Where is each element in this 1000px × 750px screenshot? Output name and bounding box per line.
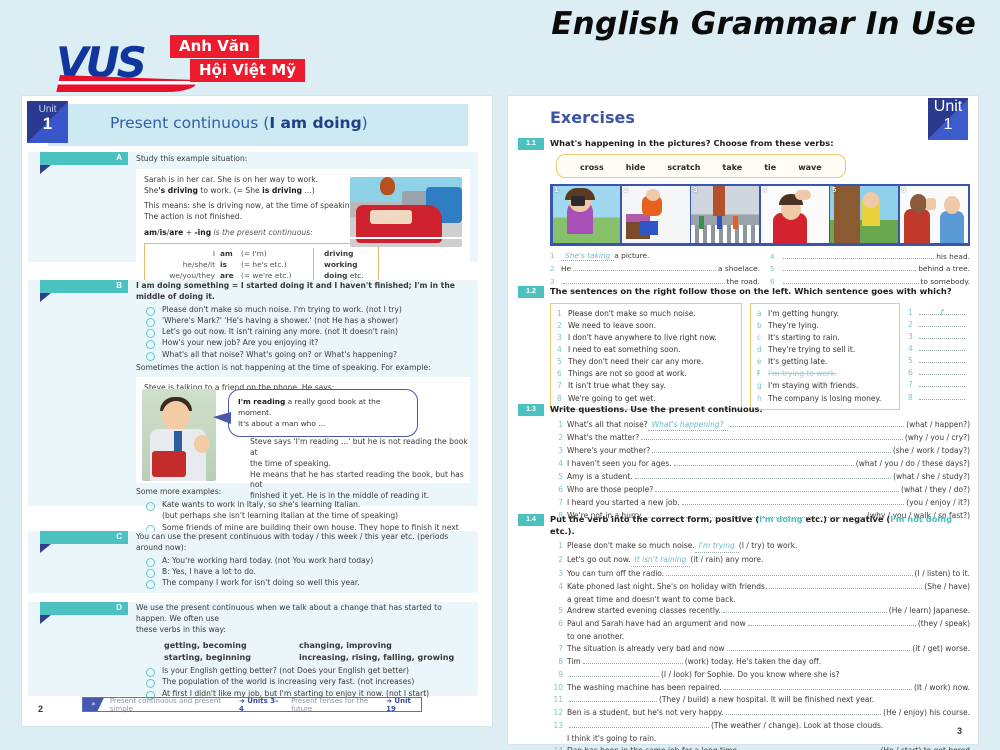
answer-row[interactable]: 3 [908,331,965,343]
answer-filled[interactable]: I'm trying [695,540,739,553]
question-row[interactable]: 1What's all that noise?What's happening?… [550,419,970,432]
logo-tagline-1: Anh Văn [170,35,259,58]
picture-2: 2 [622,186,690,243]
answer-blank[interactable] [563,276,725,284]
exercise-instruction: Write questions. Use the present continu… [550,404,970,416]
explain-line-2: the time of speaking. [250,459,475,470]
section-b: B I am doing something = I started doing… [28,280,478,545]
table-ing: driving [313,248,370,259]
answer-blank[interactable] [682,497,905,505]
exercise-instruction: The sentences on the right follow those … [550,286,970,298]
verb-row-cont: a great time and doesn't want to come ba… [550,594,970,606]
answers-col-right: 4his head. 5behind a tree. 6to somebody. [760,251,970,289]
section-a-panel: Sarah is in her car. She is on her way t… [136,169,470,263]
list-item: Is your English getting better? (not Doe… [146,666,470,677]
match-item[interactable]: 7It isn't true what they say. [557,380,735,392]
verb-row[interactable]: 2Let's go out now.It isn't raining(it / … [550,554,970,567]
answer-row[interactable]: 6to somebody. [770,276,970,286]
explain-line-1: Steve says 'I'm reading ...' but he is n… [250,437,475,459]
top-banner: English Grammar In Use VUS Anh Văn Hội V… [0,0,1000,96]
list-item: Please don't make so much noise. I'm try… [146,305,470,316]
verb-row[interactable]: 14Dan has been in the same job for a lon… [550,745,970,750]
section-a-tab: A [40,152,128,165]
verb-row[interactable]: 10The washing machine has been repaired.… [550,682,970,694]
section-b-letter: B [116,281,122,290]
exercise-1-1: 1.1 What's happening in the pictures? Ch… [550,138,970,288]
table-subject: I [153,248,215,259]
answer-post: a shoelace. [718,264,760,273]
answers-col-left: 1She's takinga picture. 2Hea shoelace. 3… [550,251,760,289]
exercise-1-1-answers: 1She's takinga picture. 2Hea shoelace. 3… [550,251,970,289]
match-option[interactable]: hThe company is losing money. [757,393,893,405]
reference-bar[interactable]: » Present continuous and present simple … [82,697,422,712]
list-item: The company I work for isn't doing so we… [146,578,470,589]
answer-blank[interactable] [919,379,965,387]
section-c-tab: C [40,531,128,544]
unit-header-bar: Present continuous (I am doing) [48,104,468,146]
verb-form-list: 1Please don't make so much noise.I'm try… [550,540,970,750]
exercise-instruction: Put the verb into the correct form, posi… [550,514,970,537]
unit-badge-number: 1 [27,115,68,134]
verb-group-1b: starting, beginning [164,652,299,663]
answer-row[interactable]: 6 [908,367,965,379]
list-item: A: You're working hard today. (not You w… [146,556,470,567]
section-c-body: You can use the present continuous with … [136,531,478,589]
answer-row[interactable]: 3the road. [550,276,760,286]
answer-blank[interactable] [769,581,922,589]
section-b-head: I am doing something = I started doing i… [136,281,455,301]
matching-right-box: aI'm getting hungry. bThey're lying. cIt… [750,303,900,410]
section-d-tab: D [40,602,128,615]
answer-post: his head. [936,252,970,261]
answer-blank[interactable] [727,643,911,651]
answer-post: the road. [727,277,760,286]
answer-blank[interactable] [783,251,934,259]
verb-row[interactable]: 3You can turn off the radio.(I / listen)… [550,568,970,580]
list-item-note: (but perhaps she isn't learning Italian … [146,511,470,522]
match-option[interactable]: eIt's getting late. [757,356,893,368]
answer-row[interactable]: 8 [908,392,965,404]
car-illustration [350,177,462,247]
steve-explanation: Steve says 'I'm reading ...' but he is n… [250,437,475,502]
logo-tagline-2: Hội Việt Mỹ [190,59,305,82]
exercise-1-3: 1.3 Write questions. Use the present con… [550,404,970,522]
question-row[interactable]: 5Amy is a student.(what / she / study?) [550,471,970,483]
unit-badge-number: 1 [944,116,953,133]
answer-blank[interactable] [783,276,919,284]
answer-blank[interactable] [573,263,716,271]
answer-blank[interactable] [666,568,912,576]
question-row[interactable]: 2What's the matter?(why / you / cry?) [550,432,970,444]
answer-blank[interactable] [741,745,878,750]
verb-row[interactable]: 6Paul and Sarah have had an argument and… [550,618,970,630]
answer-pre: He [561,264,571,273]
unit-badge-label: Unit [934,98,962,115]
answer-filled[interactable]: f [919,307,965,315]
answer-blank[interactable] [674,458,854,466]
exercise-1-4: 1.4 Put the verb into the correct form, … [550,514,970,750]
verb-option[interactable]: take [722,163,742,172]
answer-row[interactable]: 2 [908,319,965,331]
unit-badge-left: Unit 1 [27,101,68,143]
verb-row[interactable]: 9(I / look) for Sophie. Do you know wher… [550,669,970,681]
verb-row[interactable]: 1Please don't make so much noise.I'm try… [550,540,970,553]
answer-filled[interactable]: What's happening? [648,419,728,432]
match-item[interactable]: 8We're going to get wet. [557,393,735,405]
answer-row[interactable]: 7 [908,379,965,391]
match-item[interactable]: 6Things are not so good at work. [557,368,735,380]
verb-option[interactable]: cross [580,163,604,172]
page-root: English Grammar In Use VUS Anh Văn Hội V… [0,0,1000,750]
section-c-head: You can use the present continuous with … [136,532,470,554]
table-subject: he/she/it [153,259,215,270]
exercise-number: 1.4 [518,514,544,526]
section-c: C You can use the present continuous wit… [28,531,478,589]
verb-row[interactable]: 8Tim(work) today. He's taken the day off… [550,656,970,668]
section-a-letter: A [116,153,122,162]
speech-bubble: I'm reading a really good book at the mo… [228,389,418,436]
exercise-number: 1.3 [518,404,544,416]
match-option[interactable]: gI'm staying with friends. [757,380,893,392]
matching-left-box: 1Please don't make so much noise. 2We ne… [550,303,742,410]
picture-6: 6 [900,186,968,243]
section-a-intro: Study this example situation: [136,154,470,165]
answer-filled[interactable]: She's taking [561,251,614,261]
section-a-body: Study this example situation: Sarah is i… [136,152,478,263]
answer-row[interactable]: 4his head. [770,251,970,261]
match-item[interactable]: 4I need to eat something soon. [557,344,735,356]
vus-logo: VUS Anh Văn Hội Việt Mỹ [56,38,346,92]
section-c-bullets: A: You're working hard today. (not You w… [146,556,470,589]
answer-blank[interactable] [919,319,965,327]
picture-5: 5 [830,186,898,243]
answer-blank[interactable] [919,392,965,400]
answer-row[interactable]: 1f [908,307,965,319]
answer-blank[interactable] [724,682,912,690]
left-page: Present continuous (I am doing) Unit 1 A… [22,96,492,726]
answer-blank[interactable] [635,471,891,479]
verb-row-cont: to one another. [550,631,970,643]
question-list: 1What's all that noise?What's happening?… [550,419,970,522]
answer-row[interactable]: 5behind a tree. [770,263,970,273]
section-a: A Study this example situation: Sarah is… [28,152,478,263]
page-number-right: 3 [957,726,962,736]
section-b-after: Sometimes the action is not happening at… [136,363,470,374]
list-item: 'Where's Mark?' 'He's having a shower.' … [146,316,470,327]
list-item: Kate wants to work in Italy, so she's le… [146,500,470,511]
answer-blank[interactable] [919,331,965,339]
answer-filled[interactable]: It isn't raining [631,554,691,567]
table-verb: am [215,248,241,259]
answer-post: behind a tree. [918,264,970,273]
answer-blank[interactable] [569,694,657,702]
unit-title: Present continuous (I am doing) [110,114,368,132]
answer-blank[interactable] [569,720,709,728]
verb-option[interactable]: wave [798,163,821,172]
ref-link-1[interactable]: ➜ Units 3–4 [239,697,281,713]
match-option[interactable]: cIt's starting to rain. [757,332,893,344]
verb-row-cont: I think it's going to rain. [550,733,970,745]
verb-option[interactable]: tie [764,163,776,172]
right-page: Exercises Unit 1 1.1 What's happening in… [508,96,978,744]
section-b-bullets: Please don't make so much noise. I'm try… [146,305,470,361]
match-option[interactable]: aI'm getting hungry. [757,308,893,320]
answer-blank[interactable] [641,432,903,440]
book-title: English Grammar In Use [551,6,976,42]
picture-4: 4 [761,186,829,243]
question-row[interactable]: 4I haven't seen you for ages.(what / you… [550,458,970,470]
list-item: Let's go out now. It isn't raining any m… [146,327,470,338]
answer-blank[interactable] [652,445,891,453]
unit-title-bold: I am doing [269,114,361,132]
section-b-body: I am doing something = I started doing i… [136,280,478,544]
steve-panel: Steve is talking to a friend on the phon… [136,377,470,483]
page-number-left: 2 [38,704,43,714]
verb-option[interactable]: hide [626,163,646,172]
answer-blank[interactable] [919,355,965,363]
match-item[interactable]: 2We need to leave soon. [557,320,735,332]
verb-group-2b: increasing, rising, falling, growing [299,652,454,663]
section-b-tab: B [40,280,128,293]
verb-group-2a: changing, improving [299,640,454,651]
table-short: (= I'm) [241,248,303,259]
question-row[interactable]: 3Where's your mother?(she / work / today… [550,445,970,457]
table-ing: working [313,259,370,270]
table-verb: is [215,259,241,270]
verb-bank: crosshidescratchtaketiewave [556,154,846,178]
verb-row[interactable]: 11(They / build) a new hospital. It will… [550,694,970,706]
answer-blank[interactable] [919,367,965,375]
section-d-head-l1: We use the present continuous when we ta… [136,603,470,625]
answer-row[interactable]: 1She's takinga picture. [550,251,760,261]
answer-blank[interactable] [748,618,916,626]
verb-row[interactable]: 5Andrew started evening classes recently… [550,605,970,617]
answer-blank[interactable] [919,343,965,351]
answer-row[interactable]: 2Hea shoelace. [550,263,760,273]
match-option[interactable]: bThey're lying. [757,320,893,332]
answer-blank[interactable] [583,656,683,664]
list-item: The population of the world is increasin… [146,677,470,688]
unit-badge-right: Unit 1 [928,98,968,140]
bubble-line-1: I'm reading a really good book at the mo… [238,396,408,418]
unit-title-part2: ) [362,114,368,132]
exercise-number: 1.1 [518,138,544,150]
match-option[interactable]: dThey're trying to sell it. [757,344,893,356]
match-item[interactable]: 3I don't have anywhere to live right now… [557,332,735,344]
answer-row[interactable]: 4 [908,343,965,355]
picture-1: 1 [553,186,621,243]
match-item[interactable]: 1Please don't make so much noise. [557,308,735,320]
verb-row[interactable]: 4Kate phoned last night. She's on holida… [550,581,970,593]
ref-link-2[interactable]: ➜ Unit 19 [386,697,421,713]
verb-group-1a: getting, becoming [164,640,299,651]
logo-swoosh-icon [56,75,200,92]
match-item[interactable]: 5They don't need their car any more. [557,356,735,368]
section-d-body: We use the present continuous when we ta… [136,602,478,699]
exercise-1-2: 1.2 The sentences on the right follow th… [550,286,970,410]
answer-post: to somebody. [921,277,970,286]
picture-strip: 1 2 3 [550,184,970,246]
section-d-bullets: Is your English getting better? (not Doe… [146,666,470,699]
section-d-head-l2: these verbs in this way: [136,625,470,636]
ref-text-2: Present tenses for the future [291,697,386,713]
section-d-letter: D [116,603,122,612]
verb-row[interactable]: 13(The weather / change). Look at those … [550,720,970,732]
explain-line-3: He means that he has started reading the… [250,470,475,492]
answer-blank[interactable] [726,707,882,715]
matching-area: 1Please don't make so much noise. 2We ne… [550,303,970,410]
matching-answers: 1f 2 3 4 5 6 7 8 [908,303,965,410]
bubble-line-2: It's about a man who ... [238,418,408,429]
ref-text-1: Present continuous and present simple [110,697,239,713]
steve-illustration [142,389,216,481]
answer-blank[interactable] [783,263,916,271]
section-d: D We use the present continuous when we … [28,602,478,700]
verb-option[interactable]: scratch [667,163,700,172]
verb-row[interactable]: 12Ben is a student, but he's not very ha… [550,707,970,719]
exercises-title: Exercises [550,108,635,127]
answer-row[interactable]: 5 [908,355,965,367]
list-item: What's all that noise? What's going on? … [146,350,470,361]
table-short: (= he's etc.) [241,259,303,270]
arrow-icon: » [83,698,104,711]
unit-title-part1: Present continuous ( [110,114,269,132]
answer-blank[interactable] [655,484,899,492]
answer-blank[interactable] [569,669,659,677]
question-row[interactable]: 6Who are those people?(what / they / do?… [550,484,970,496]
verb-row[interactable]: 7The situation is already very bad and n… [550,643,970,655]
list-item-sub: B: Yes, I have a lot to do. [146,567,470,578]
section-c-letter: C [116,532,122,541]
answer-blank[interactable] [723,605,887,613]
exercise-instruction: What's happening in the pictures? Choose… [550,138,970,150]
match-option-used[interactable]: fI'm trying to work. [757,368,893,380]
answer-post: a picture. [614,251,649,260]
question-row[interactable]: 7I heard you started a new job.(you / en… [550,497,970,509]
exercise-number: 1.2 [518,286,544,298]
list-item: How's your new job? Are you enjoying it? [146,338,470,349]
section-d-verbs: getting, becoming starting, beginning ch… [164,640,470,663]
picture-3: 3 [691,186,759,243]
